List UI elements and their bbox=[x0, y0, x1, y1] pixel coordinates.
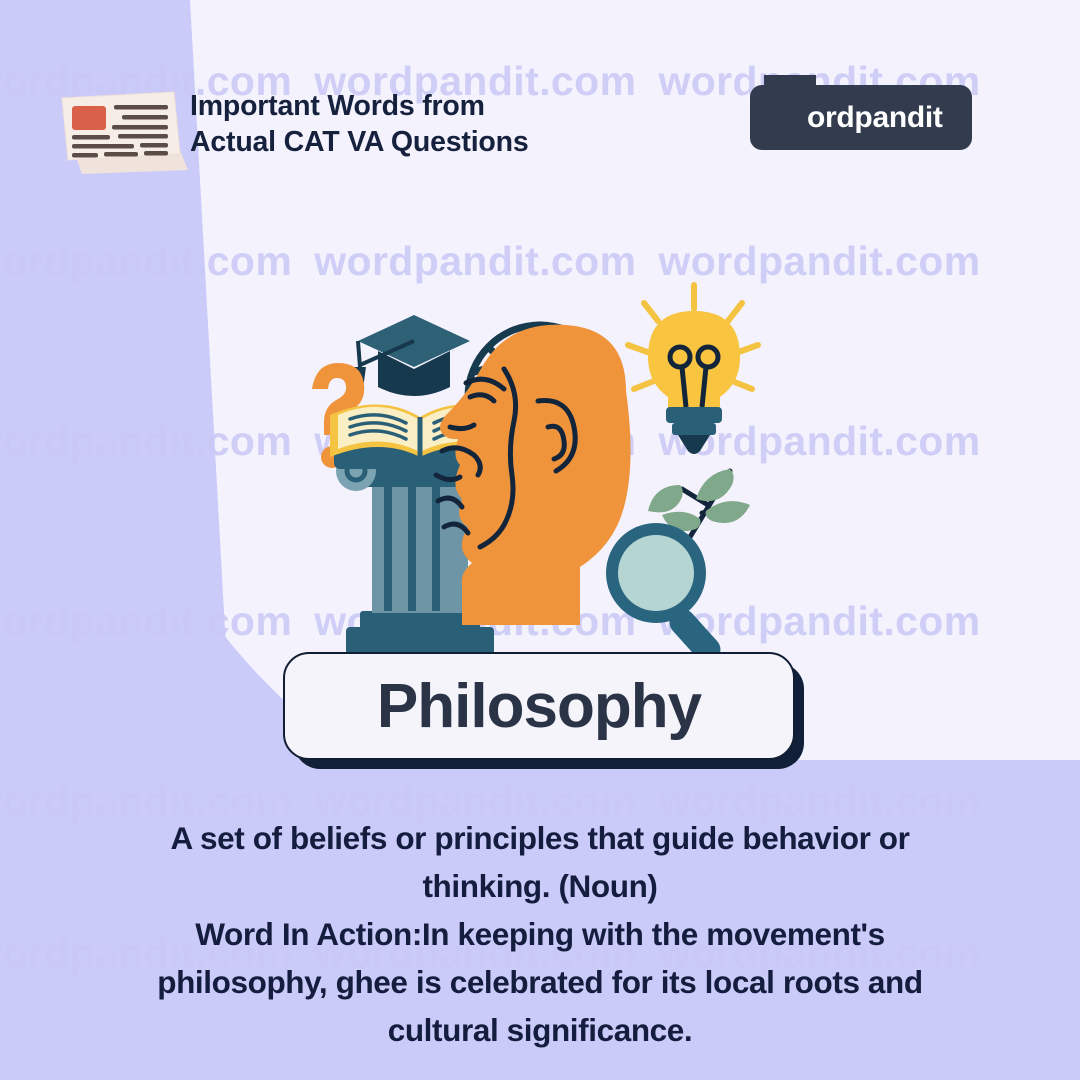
philosophy-illustration bbox=[290, 275, 790, 665]
wordpandit-logo[interactable]: ordpandit bbox=[750, 85, 972, 150]
word-in-action-line1: Word In Action:In keeping with the movem… bbox=[45, 911, 1035, 959]
vocabulary-word: Philosophy bbox=[377, 671, 701, 742]
magnifying-glass-icon bbox=[606, 523, 725, 665]
poster-canvas: wordpandit.comwordpandit.comwordpandit.c… bbox=[0, 0, 1080, 1080]
definition-line2: thinking. (Noun) bbox=[45, 863, 1035, 911]
definition-line1: A set of beliefs or principles that guid… bbox=[45, 815, 1035, 863]
definition-block: A set of beliefs or principles that guid… bbox=[45, 815, 1035, 1054]
page-title-line1: Important Words from bbox=[190, 90, 485, 122]
graduation-cap-icon bbox=[354, 315, 470, 396]
word-card: Philosophy bbox=[283, 652, 803, 762]
logo-text: ordpandit bbox=[807, 101, 943, 135]
word-card-body: Philosophy bbox=[283, 652, 795, 760]
newspaper-icon bbox=[48, 78, 200, 178]
lightbulb-icon bbox=[628, 285, 758, 454]
word-in-action-line3: cultural significance. bbox=[45, 1007, 1035, 1055]
page-title-line2: Actual CAT VA Questions bbox=[190, 124, 529, 160]
poster-header: Important Words from Actual CAT VA Quest… bbox=[0, 0, 1080, 190]
philosopher-head-icon bbox=[436, 325, 631, 625]
page-title: Important Words from Actual CAT VA Quest… bbox=[190, 88, 529, 161]
word-in-action-line2: philosophy, ghee is celebrated for its l… bbox=[45, 959, 1035, 1007]
